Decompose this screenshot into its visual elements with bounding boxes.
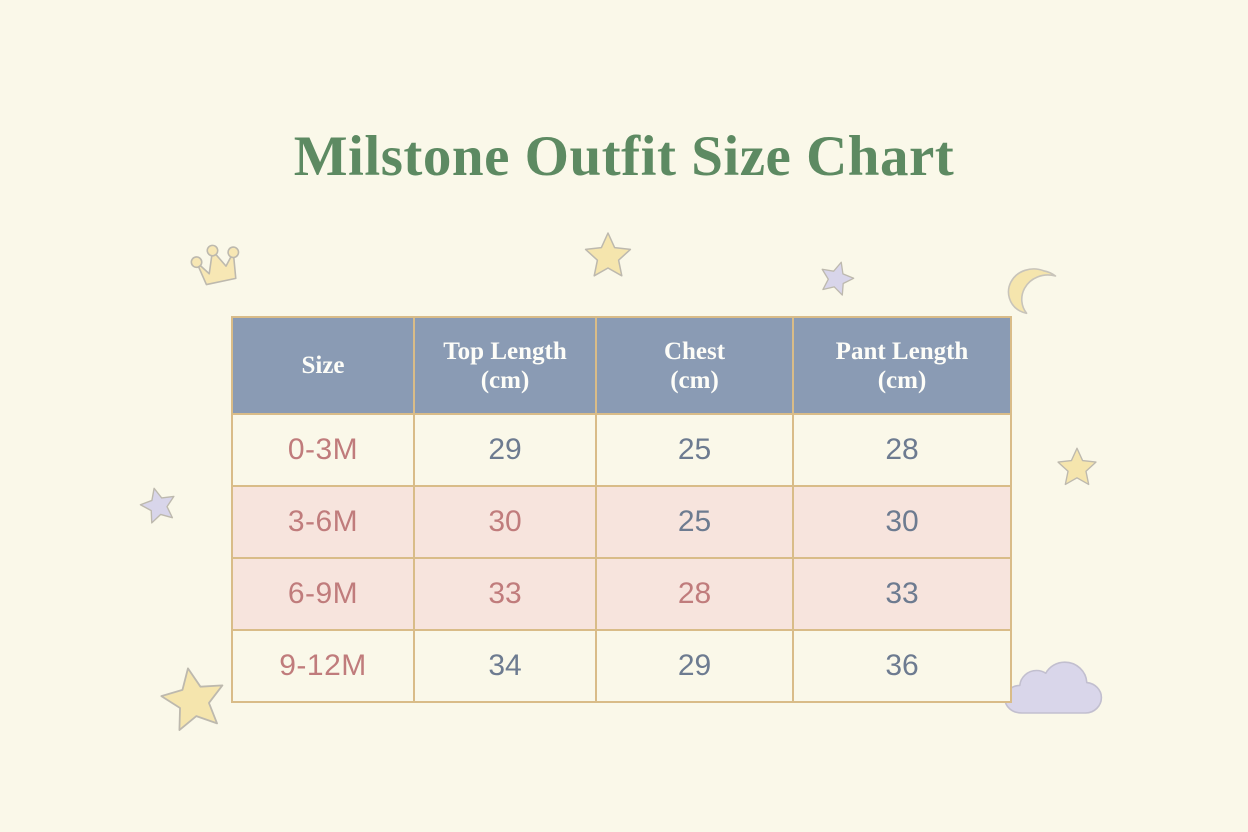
- table-header-row: Size Top Length (cm) Chest (cm) Pant Len…: [232, 317, 1011, 414]
- table-body: 0-3M 29 25 28 3-6M 30 25 30 6-9M 33 28 3…: [232, 414, 1011, 702]
- cell-pant-length: 36: [793, 630, 1011, 702]
- table-row: 6-9M 33 28 33: [232, 558, 1011, 630]
- crown-icon: [186, 236, 248, 298]
- cell-pant-length: 33: [793, 558, 1011, 630]
- cell-chest: 25: [596, 414, 793, 486]
- column-header-chest-line1: Chest: [664, 338, 725, 365]
- column-header-pant-length: Pant Length (cm): [793, 317, 1011, 414]
- cell-chest: 28: [596, 558, 793, 630]
- cell-chest: 25: [596, 486, 793, 558]
- column-header-chest: Chest (cm): [596, 317, 793, 414]
- size-chart-canvas: Milstone Outfit Size Chart: [0, 0, 1248, 832]
- column-header-size-line1: Size: [301, 352, 344, 379]
- column-header-top-length-line2: (cm): [415, 366, 595, 395]
- table-header: Size Top Length (cm) Chest (cm) Pant Len…: [232, 317, 1011, 414]
- star-icon-lavender-left: [138, 484, 178, 524]
- column-header-size: Size: [232, 317, 414, 414]
- cloud-icon: [1002, 661, 1106, 719]
- table-row: 3-6M 30 25 30: [232, 486, 1011, 558]
- star-icon-right: [1055, 444, 1099, 488]
- table-row: 0-3M 29 25 28: [232, 414, 1011, 486]
- cell-chest: 29: [596, 630, 793, 702]
- cell-top-length: 33: [414, 558, 596, 630]
- table-row: 9-12M 34 29 36: [232, 630, 1011, 702]
- star-icon-lavender-top: [818, 258, 856, 296]
- page-title: Milstone Outfit Size Chart: [0, 124, 1248, 189]
- cell-top-length: 34: [414, 630, 596, 702]
- star-icon-top-center: [582, 228, 634, 280]
- cell-top-length: 30: [414, 486, 596, 558]
- column-header-top-length: Top Length (cm): [414, 317, 596, 414]
- column-header-chest-line2: (cm): [597, 366, 792, 395]
- cell-size: 3-6M: [232, 486, 414, 558]
- column-header-pant-length-line1: Pant Length: [836, 338, 969, 365]
- cell-pant-length: 28: [793, 414, 1011, 486]
- cell-size: 0-3M: [232, 414, 414, 486]
- cell-size: 6-9M: [232, 558, 414, 630]
- size-chart-table: Size Top Length (cm) Chest (cm) Pant Len…: [231, 316, 1012, 703]
- star-icon-bottom-left: [157, 661, 229, 733]
- column-header-pant-length-line2: (cm): [794, 366, 1010, 395]
- moon-icon: [1007, 262, 1063, 318]
- cell-top-length: 29: [414, 414, 596, 486]
- column-header-top-length-line1: Top Length: [443, 338, 566, 365]
- cell-size: 9-12M: [232, 630, 414, 702]
- cell-pant-length: 30: [793, 486, 1011, 558]
